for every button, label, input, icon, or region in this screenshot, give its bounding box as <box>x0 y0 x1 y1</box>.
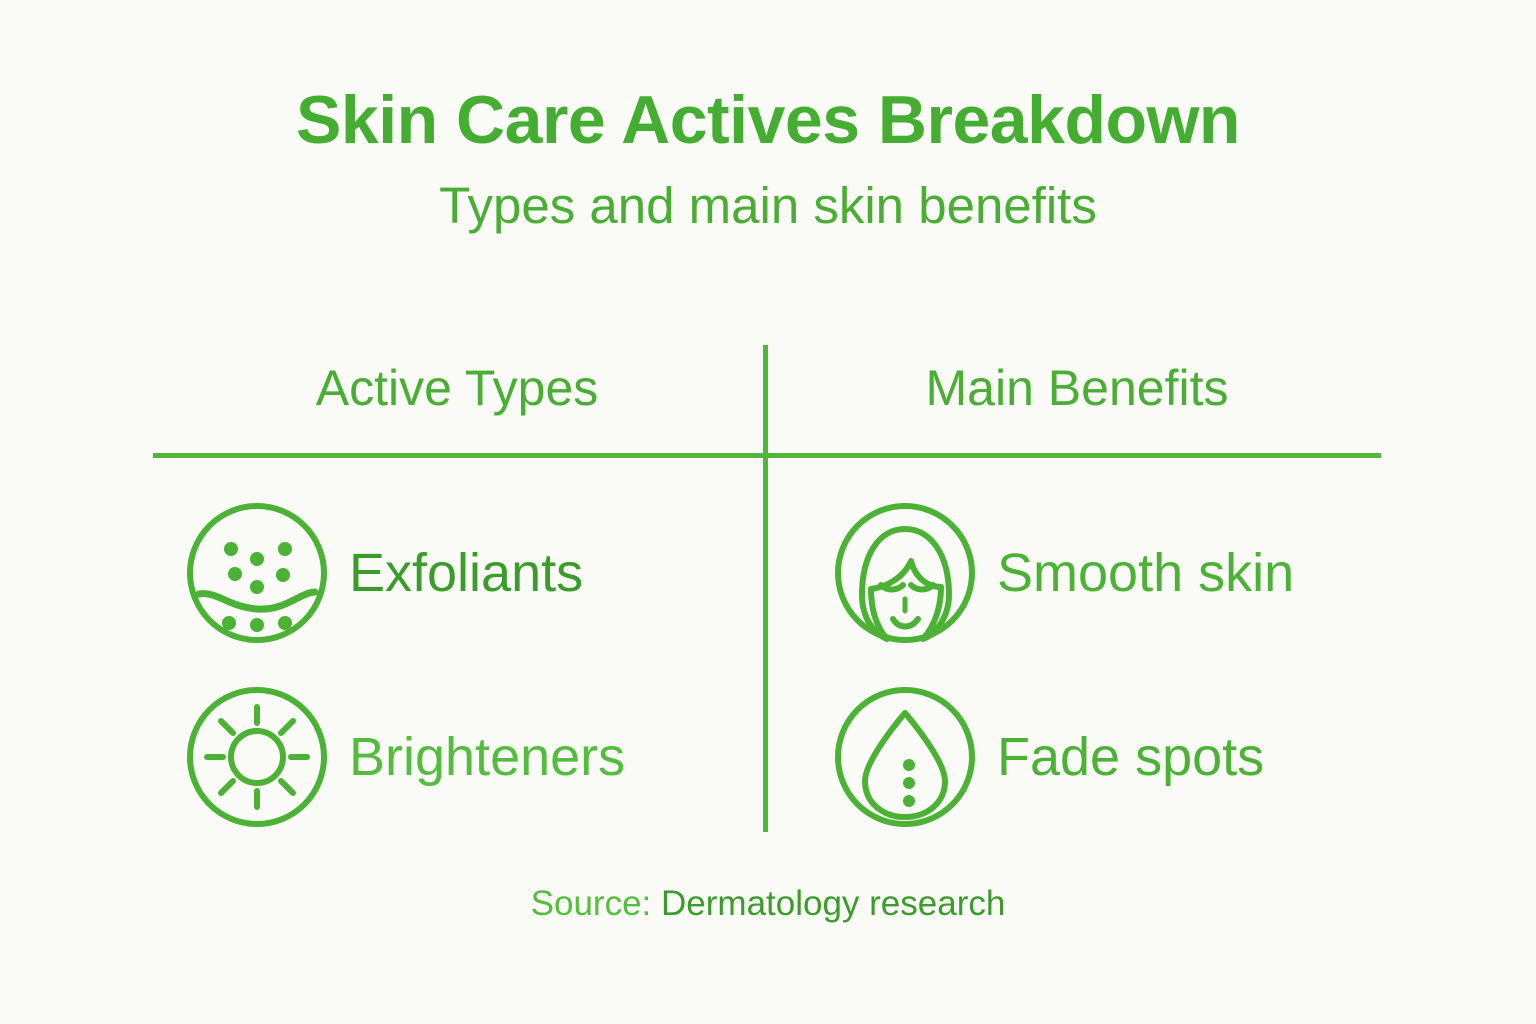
column-header-active-types: Active Types <box>153 359 761 417</box>
table-row: Brighteners <box>183 682 763 832</box>
skin-dots-wave-icon <box>183 499 331 647</box>
source-value: Dermatology research <box>661 884 1005 923</box>
table-row: Exfoliants <box>183 498 763 648</box>
column-divider-vertical <box>763 345 768 832</box>
sun-icon <box>183 683 331 831</box>
column-header-main-benefits: Main Benefits <box>773 359 1381 417</box>
header: Skin Care Actives Breakdown Types and ma… <box>0 86 1536 231</box>
face-icon <box>831 499 979 647</box>
row-label-exfoliants: Exfoliants <box>349 546 583 600</box>
row-label-fade-spots: Fade spots <box>997 730 1264 784</box>
droplet-dots-icon <box>831 683 979 831</box>
source-note: Source: Dermatology research <box>0 884 1536 924</box>
source-label: Source: <box>531 884 652 923</box>
table-row: Fade spots <box>831 682 1391 832</box>
row-label-smooth-skin: Smooth skin <box>997 546 1294 600</box>
comparison-table: Active Types Main Benefits <box>153 345 1381 835</box>
infographic-page: Skin Care Actives Breakdown Types and ma… <box>0 0 1536 1024</box>
table-row: Smooth skin <box>831 498 1391 648</box>
page-subtitle: Types and main skin benefits <box>0 180 1536 231</box>
row-label-brighteners: Brighteners <box>349 730 625 784</box>
page-title: Skin Care Actives Breakdown <box>0 86 1536 154</box>
